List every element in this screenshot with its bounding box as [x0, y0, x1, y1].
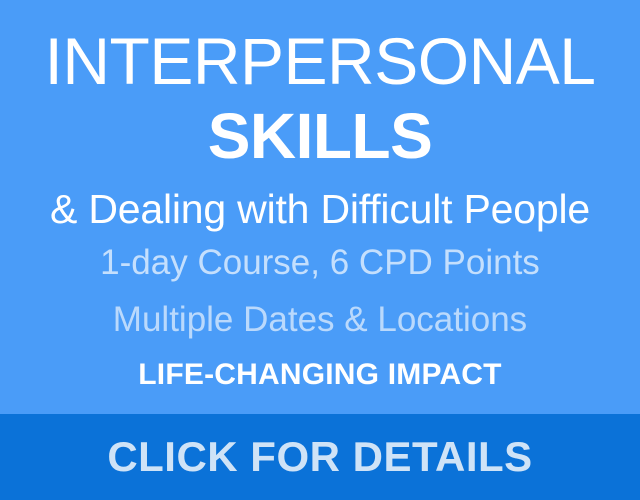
click-for-details-button[interactable]: CLICK FOR DETAILS	[0, 414, 640, 500]
banner-tagline: LIFE-CHANGING IMPACT	[0, 358, 640, 392]
banner-subheading: & Dealing with Difficult People	[0, 186, 640, 232]
course-detail-duration-cpd: 1-day Course, 6 CPD Points	[0, 243, 640, 283]
headline-primary: INTERPERSONAL	[0, 25, 640, 97]
course-advert-banner: INTERPERSONAL SKILLS & Dealing with Diff…	[0, 0, 640, 500]
headline-secondary: SKILLS	[0, 101, 640, 171]
cta-label: CLICK FOR DETAILS	[107, 434, 532, 480]
banner-message-block: INTERPERSONAL SKILLS & Dealing with Diff…	[0, 0, 640, 414]
course-detail-dates-locations: Multiple Dates & Locations	[0, 300, 640, 340]
